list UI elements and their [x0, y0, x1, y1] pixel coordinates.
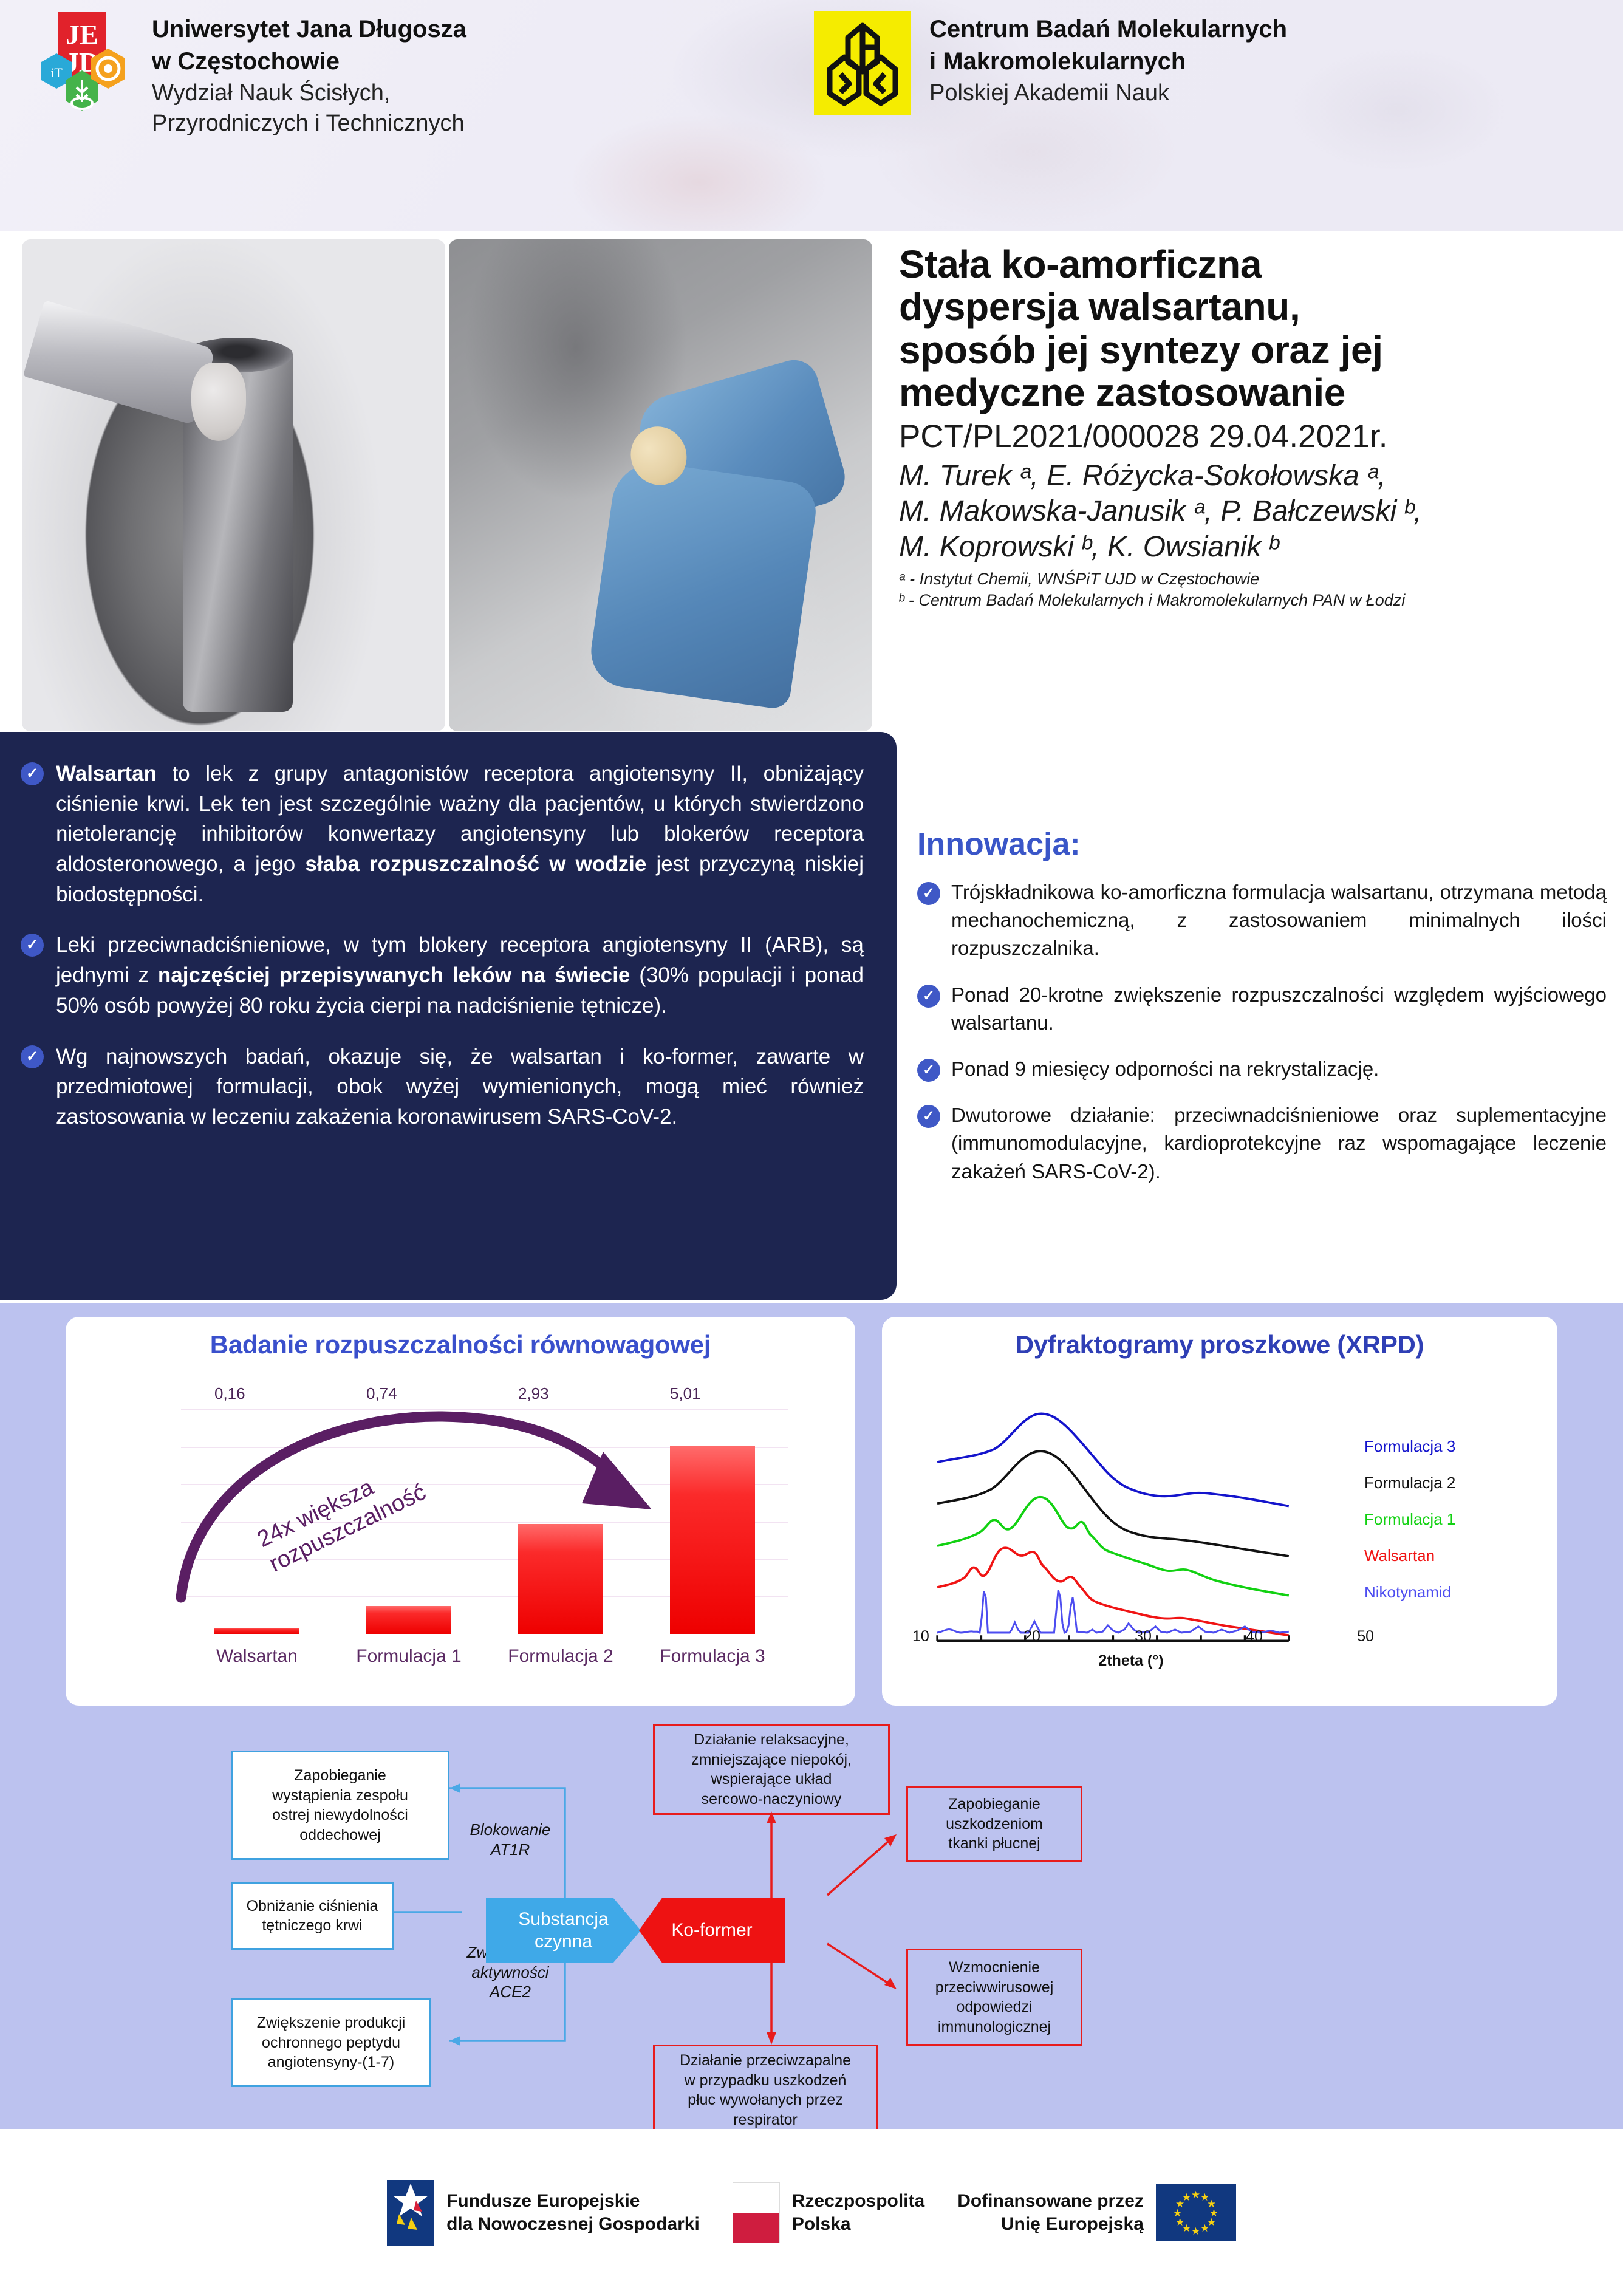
innovation-title: Innowacja:: [917, 826, 1607, 863]
faculty-name: Wydział Nauk Ścisłych, Przyrodniczych i …: [152, 78, 650, 138]
x-tick-label: 50: [1357, 1628, 1374, 1645]
fundusze-europejskie-logo: [387, 2180, 434, 2246]
eu-star-icon: ★: [1191, 2226, 1200, 2236]
ujd-logo: JE JD iT: [23, 12, 145, 112]
funding-footer: Fundusze Europejskie dla Nowoczesnej Gos…: [0, 2129, 1623, 2296]
photo-powder-in-mill-jar: [22, 239, 445, 731]
flow-box-blue-2: Obniżanie ciśnienia tętniczego krwi: [231, 1882, 394, 1950]
innovation-bullet: ✓Dwutorowe działanie: przeciwnadciśnieni…: [917, 1101, 1607, 1186]
footer-item-poland: Rzeczpospolita Polska: [733, 2182, 924, 2243]
footer-text-eu: Dofinansowane przez Unię Europejską: [957, 2190, 1144, 2236]
flow-box-blue-1: Zapobieganie wystąpienia zespołu ostrej …: [231, 1751, 449, 1860]
affiliation-list: ᵃ - Instytut Chemii, WNŚPiT UJD w Często…: [899, 569, 1616, 611]
eu-star-icon: ★: [1182, 2192, 1191, 2202]
intro-bullet-text: Wg najnowszych badań, okazuje się, że wa…: [56, 1042, 864, 1132]
innovation-bullet-text: Dwutorowe działanie: przeciwnadciśnienio…: [951, 1101, 1607, 1186]
page-title: Stała ko-amorficzna dyspersja walsartanu…: [899, 243, 1616, 414]
bar-value-label: 0,74: [366, 1384, 397, 1403]
intro-bullet-text: Leki przeciwnadciśnieniowe, w tym bloker…: [56, 930, 864, 1020]
check-icon: ✓: [917, 1059, 940, 1082]
intro-bullet: ✓Leki przeciwnadciśnieniowe, w tym bloke…: [21, 930, 864, 1020]
eu-star-icon: ★: [1191, 2190, 1200, 2200]
poster-header: JE JD iT Uniwersytet Jana Długosza w Czę…: [0, 0, 1623, 231]
header-right-text: Centrum Badań Molekularnych i Makromolek…: [929, 13, 1597, 108]
solubility-chart-title: Badanie rozpuszczalności równowagowej: [66, 1317, 855, 1359]
intro-panel: ✓Walsartan to lek z grupy antagonistów r…: [0, 732, 897, 1300]
innovation-bullet: ✓Trójskładnikowa ko-amorficzna formulacj…: [917, 878, 1607, 963]
check-icon: ✓: [917, 882, 940, 905]
innovation-panel: Innowacja: ✓Trójskładnikowa ko-amorficzn…: [917, 826, 1607, 1204]
bar-column: 5,01: [637, 1409, 788, 1634]
intro-bullet-text: Walsartan to lek z grupy antagonistów re…: [56, 759, 864, 909]
eu-flag: ★★★★★★★★★★★★: [1156, 2184, 1236, 2241]
academy-name: Polskiej Akademii Nauk: [929, 78, 1597, 108]
header-left-text: Uniwersytet Jana Długosza w Częstochowie…: [152, 13, 650, 138]
mechanism-diagram: Zapobieganie wystąpienia zespołu ostrej …: [0, 1713, 1623, 2132]
institute-name: Centrum Badań Molekularnych i Makromolek…: [929, 13, 1597, 78]
bar-category-label: Formulacja 1: [333, 1646, 485, 1667]
bar-value-label: 5,01: [670, 1384, 701, 1403]
innovation-bullet-text: Ponad 20-krotne zwiększenie rozpuszczaln…: [951, 981, 1607, 1037]
footer-item-eu: Dofinansowane przez Unię Europejską ★★★★…: [957, 2184, 1236, 2241]
x-tick-label: 40: [1246, 1628, 1263, 1645]
cbmm-logo: [814, 11, 911, 115]
bar-category-label: Formulacja 2: [485, 1646, 637, 1667]
xrpd-legend: Formulacja 3Formulacja 2Formulacja 1Wals…: [1364, 1438, 1540, 1621]
check-icon: ✓: [21, 1045, 44, 1068]
footer-item-funds: Fundusze Europejskie dla Nowoczesnej Gos…: [387, 2180, 700, 2246]
flow-box-red-3: Wzmocnienie przeciwwirusowej odpowiedzi …: [906, 1949, 1082, 2046]
flow-box-blue-3: Zwiększenie produkcji ochronnego peptydu…: [231, 1998, 431, 2087]
spatula: [23, 300, 216, 425]
bar: 5,01: [670, 1446, 755, 1634]
check-icon: ✓: [21, 762, 44, 785]
innovation-bullet-text: Ponad 9 miesięcy odporności na rekrystal…: [951, 1055, 1379, 1083]
innovation-bullet: ✓Ponad 9 miesięcy odporności na rekrysta…: [917, 1055, 1607, 1083]
flow-box-red-2: Zapobieganie uszkodzeniom tkanki płucnej: [906, 1786, 1082, 1862]
photo-strip: [22, 239, 872, 731]
footer-text-funds: Fundusze Europejskie dla Nowoczesnej Gos…: [446, 2190, 700, 2236]
flow-box-red-4: Działanie przeciwzapalne w przypadku usz…: [653, 2045, 878, 2136]
intro-bullet: ✓Walsartan to lek z grupy antagonistów r…: [21, 759, 864, 909]
bar: 0,16: [214, 1628, 299, 1634]
legend-entry: Formulacja 2: [1364, 1475, 1540, 1491]
check-icon: ✓: [917, 985, 940, 1008]
x-tick-label: 20: [1023, 1628, 1040, 1645]
bar-category-label: Walsartan: [181, 1646, 333, 1667]
x-tick-label: 30: [1135, 1628, 1152, 1645]
active-substance-node: Substancja czynna: [486, 1898, 641, 1963]
author-list: M. Turek ᵃ, E. Różycka-Sokołowska ᵃ, M. …: [899, 459, 1616, 565]
xrpd-chart: Formulacja 3Formulacja 2Formulacja 1Wals…: [882, 1367, 1557, 1707]
svg-text:JE: JE: [66, 19, 98, 50]
check-icon: ✓: [917, 1105, 940, 1128]
legend-entry: Walsartan: [1364, 1548, 1540, 1563]
innovation-bullet-text: Trójskładnikowa ko-amorficzna formulacja…: [951, 878, 1607, 963]
innovation-bullet: ✓Ponad 20-krotne zwiększenie rozpuszczal…: [917, 981, 1607, 1037]
powder-sample: [191, 363, 247, 442]
bar: 2,93: [518, 1524, 603, 1634]
eu-star-icon: ★: [1200, 2223, 1209, 2233]
flow-label-at1r: Blokowanie AT1R: [449, 1820, 571, 1859]
footer-text-poland: Rzeczpospolita Polska: [792, 2190, 924, 2236]
solubility-bar-chart: 0,160,742,935,01 24x większa rozpuszczal…: [66, 1367, 855, 1707]
legend-entry: Formulacja 1: [1364, 1511, 1540, 1527]
bar-category-labels: WalsartanFormulacja 1Formulacja 2Formula…: [181, 1646, 788, 1667]
poster-root: JE JD iT Uniwersytet Jana Długosza w Czę…: [0, 0, 1623, 2296]
x-tick-label: 10: [912, 1628, 929, 1645]
check-icon: ✓: [21, 934, 44, 957]
flow-box-red-1: Działanie relaksacyjne, zmniejszające ni…: [653, 1724, 890, 1815]
gloved-thumb: [587, 457, 819, 710]
coformer-node: Ko-former: [639, 1898, 785, 1963]
bar-value-label: 0,16: [214, 1384, 245, 1403]
bar-category-label: Formulacja 3: [637, 1646, 788, 1667]
photo-gloved-hand-with-tablet: [449, 239, 872, 731]
xrpd-chart-title: Dyfraktogramy proszkowe (XRPD): [882, 1317, 1557, 1359]
legend-entry: Nikotynamid: [1364, 1584, 1540, 1600]
title-block: Stała ko-amorficzna dyspersja walsartanu…: [899, 243, 1616, 611]
svg-text:iT: iT: [50, 65, 63, 80]
legend-entry: Formulacja 3: [1364, 1438, 1540, 1454]
xrpd-x-axis-label: 2theta (°): [882, 1652, 1380, 1670]
xrpd-x-ticks: 1020304050: [912, 1628, 1374, 1645]
xrpd-plot-area: [906, 1400, 1392, 1643]
poland-flag: [733, 2182, 780, 2243]
bar: 0,74: [366, 1606, 451, 1634]
patent-number: PCT/PL2021/000028 29.04.2021r.: [899, 418, 1616, 455]
university-name: Uniwersytet Jana Długosza w Częstochowie: [152, 13, 650, 78]
intro-bullet: ✓Wg najnowszych badań, okazuje się, że w…: [21, 1042, 864, 1132]
